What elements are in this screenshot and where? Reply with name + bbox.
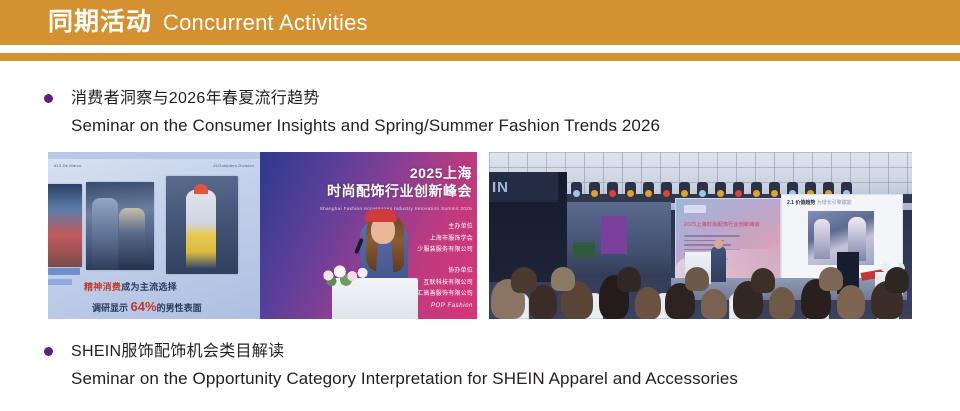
slide-top-strip bbox=[48, 152, 260, 159]
stage-light-icon bbox=[661, 182, 672, 196]
photo-strip: #13 De Marzo #1Outsiders Division 精神消费成为… bbox=[48, 152, 912, 319]
stage-light-icon bbox=[643, 182, 654, 196]
audience-head bbox=[751, 268, 775, 293]
photo-left-slide-screen: #13 De Marzo #1Outsiders Division 精神消费成为… bbox=[48, 152, 260, 319]
slide-photo-tile-3 bbox=[166, 176, 238, 274]
doorway-panel-green bbox=[573, 242, 595, 258]
audience bbox=[489, 257, 912, 319]
activity-entry-1: 消费者洞察与2026年春夏流行趋势 Seminar on the Consume… bbox=[0, 89, 960, 137]
slide-subline-prefix: 调研显示 bbox=[92, 303, 128, 313]
audience-head bbox=[837, 285, 865, 319]
audience-head bbox=[635, 287, 661, 319]
slide-subline-suffix: 的男性表面 bbox=[157, 303, 202, 313]
slide-captions: #13 De Marzo #1Outsiders Division bbox=[54, 163, 254, 168]
page-title-en: Concurrent Activities bbox=[163, 12, 368, 34]
slide-bar-1 bbox=[48, 268, 80, 275]
stage-light-icon bbox=[697, 182, 708, 196]
speaker-hat bbox=[365, 209, 397, 222]
audience-head bbox=[617, 267, 641, 292]
header-title-group: 同期活动 Concurrent Activities bbox=[0, 10, 368, 35]
backdrop-title-line1: 2025上海 bbox=[302, 165, 472, 183]
content-area: 消费者洞察与2026年春夏流行趋势 Seminar on the Consume… bbox=[0, 61, 960, 411]
activity-1-title-cn: 消费者洞察与2026年春夏流行趋势 bbox=[71, 89, 320, 108]
activity-entry-2: SHEIN服饰配饰机会类目解读 Seminar on the Opportuni… bbox=[0, 342, 960, 390]
audience-head bbox=[551, 267, 575, 291]
activity-1-cn-line: 消费者洞察与2026年春夏流行趋势 bbox=[0, 89, 960, 108]
slide-headline: 精神消费成为主流选择 bbox=[84, 280, 252, 293]
stage-light-icon bbox=[715, 182, 726, 196]
stage-screen-right-title: 2.1 价值趋势 为增长引擎赋能 bbox=[787, 199, 852, 206]
slide-subline-number: 64% bbox=[131, 299, 157, 314]
flower-arrangement bbox=[320, 264, 372, 286]
venue-signage: IN bbox=[489, 172, 558, 202]
audience-head bbox=[885, 267, 909, 293]
slide-photo-tile-2 bbox=[86, 182, 154, 270]
audience-head bbox=[685, 267, 709, 291]
stage-light-icon bbox=[607, 182, 618, 196]
audience-head bbox=[769, 287, 795, 319]
stage-light-icon bbox=[571, 182, 582, 196]
stage-screen-left-title: 2025上海时尚配饰行业创新峰会 bbox=[684, 221, 760, 228]
photo-right-scene: IN 2025上海时尚配饰行业创新峰会 bbox=[489, 152, 912, 319]
bullet-point-icon bbox=[44, 94, 53, 103]
backdrop-title: 2025上海 时尚配饰行业创新峰会 bbox=[302, 165, 472, 200]
slide-headline-dark: 成为主流选择 bbox=[121, 282, 177, 292]
slide-headline-red: 精神消费 bbox=[84, 282, 121, 292]
stage-speaker-head bbox=[714, 239, 723, 249]
activity-2-title-cn: SHEIN服饰配饰机会类目解读 bbox=[71, 342, 284, 361]
audience-head bbox=[819, 267, 843, 291]
stage-light-icon bbox=[751, 182, 762, 196]
stage-light-icon bbox=[625, 182, 636, 196]
stage-light-icon bbox=[679, 182, 690, 196]
slide-photo-tile-1 bbox=[48, 184, 82, 267]
photo-audience-stage: IN 2025上海时尚配饰行业创新峰会 bbox=[489, 152, 912, 319]
stage-light-icon bbox=[733, 182, 744, 196]
slide-subline: 调研显示 64%的男性表面 bbox=[92, 299, 202, 314]
audience-head bbox=[511, 267, 537, 293]
photo-speaker-podium: #13 De Marzo #1Outsiders Division 精神消费成为… bbox=[48, 152, 477, 319]
screen-right-subtitle-text: 为增长引擎赋能 bbox=[817, 200, 852, 206]
slide-caption-1: #13 De Marzo bbox=[54, 163, 82, 168]
bullet-point-icon bbox=[44, 347, 53, 356]
doorway-panel-purple bbox=[601, 216, 627, 254]
text-line bbox=[684, 235, 740, 237]
audience-head bbox=[701, 289, 727, 319]
stage-light-icon bbox=[589, 182, 600, 196]
page-title-cn: 同期活动 bbox=[48, 10, 152, 35]
slide-bar-2 bbox=[48, 279, 72, 285]
backdrop-title-line2: 时尚配饰行业创新峰会 bbox=[302, 183, 472, 201]
activity-2-title-en: Seminar on the Opportunity Category Inte… bbox=[0, 369, 960, 389]
header-accent-rule bbox=[0, 53, 960, 61]
screen-right-title-text: 2.1 价值趋势 bbox=[787, 200, 815, 206]
activity-1-title-en: Seminar on the Consumer Insights and Spr… bbox=[0, 116, 960, 136]
slide-caption-2: #1Outsiders Division bbox=[213, 163, 254, 168]
text-line bbox=[684, 244, 731, 246]
photo-left-backdrop: 2025上海 时尚配饰行业创新峰会 Shanghai Fashion Acces… bbox=[260, 152, 477, 319]
activity-2-cn-line: SHEIN服饰配饰机会类目解读 bbox=[0, 342, 960, 361]
page-header: 同期活动 Concurrent Activities bbox=[0, 0, 960, 45]
stage-light-icon bbox=[769, 182, 780, 196]
stage-screen-left-logo bbox=[684, 205, 706, 213]
